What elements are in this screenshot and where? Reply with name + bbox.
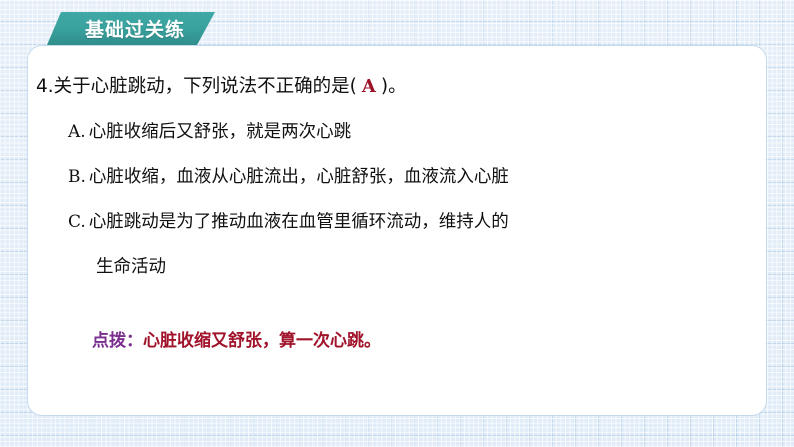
option-c-continuation: 生命活动 (96, 253, 760, 278)
slide-page: 基础过关练 4.关于心脏跳动，下列说法不正确的是(A)。 A.心脏收缩后又舒张，… (0, 0, 794, 447)
question-stem-after: )。 (381, 76, 407, 97)
option-c[interactable]: C.心脏跳动是为了推动血液在血管里循环流动，维持人的 (68, 208, 760, 233)
section-banner-label: 基础过关练 (85, 15, 185, 42)
option-b-text: 心脏收缩，血液从心脏流出，心脏舒张，血液流入心脏 (89, 167, 509, 187)
option-b-letter: B. (68, 167, 89, 187)
option-a-letter: A. (68, 122, 89, 142)
question-stem-before: 关于心脏跳动，下列说法不正确的是( (54, 76, 357, 97)
hint-label: 点拨： (92, 331, 143, 351)
option-c-text: 心脏跳动是为了推动血液在血管里循环流动，维持人的 (89, 212, 509, 232)
option-c-letter: C. (68, 212, 89, 232)
option-a[interactable]: A.心脏收缩后又舒张，就是两次心跳 (68, 118, 760, 143)
question-number: 4. (36, 76, 54, 97)
question-stem: 4.关于心脏跳动，下列说法不正确的是(A)。 (36, 78, 760, 97)
option-b[interactable]: B.心脏收缩，血液从心脏流出，心脏舒张，血液流入心脏 (68, 163, 760, 188)
hint-line: 点拨：心脏收缩又舒张，算一次心跳。 (92, 326, 381, 351)
hint-text: 心脏收缩又舒张，算一次心跳。 (143, 331, 381, 351)
option-a-text: 心脏收缩后又舒张，就是两次心跳 (89, 122, 352, 142)
answer-key: A (357, 76, 381, 97)
question-block: 4.关于心脏跳动，下列说法不正确的是(A)。 A.心脏收缩后又舒张，就是两次心跳… (30, 78, 760, 298)
section-banner: 基础过关练 (47, 12, 215, 45)
